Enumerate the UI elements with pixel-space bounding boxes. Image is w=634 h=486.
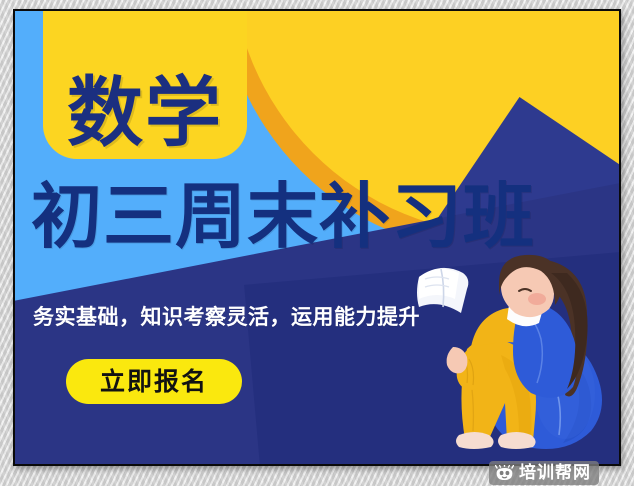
promo-poster: 数学 初三周末补习班 务实基础，知识考察灵活，运用能力提升 立即报名: [13, 9, 621, 466]
subject-badge: 数学: [43, 9, 247, 159]
watermark-text: 培训帮网: [519, 465, 591, 482]
signup-button-label: 立即报名: [100, 369, 208, 394]
page-background: 数学 初三周末补习班 务实基础，知识考察灵活，运用能力提升 立即报名 培训帮网: [0, 0, 634, 486]
student-reading-illustration: [415, 243, 621, 466]
signup-button[interactable]: 立即报名: [66, 359, 242, 404]
watermark-badge: 培训帮网: [489, 461, 599, 485]
page-title: 初三周末补习班: [31, 181, 535, 252]
mascot-face-icon: [495, 465, 514, 482]
poster-subtitle: 务实基础，知识考察灵活，运用能力提升: [33, 301, 420, 331]
subject-badge-label: 数学: [67, 75, 223, 151]
